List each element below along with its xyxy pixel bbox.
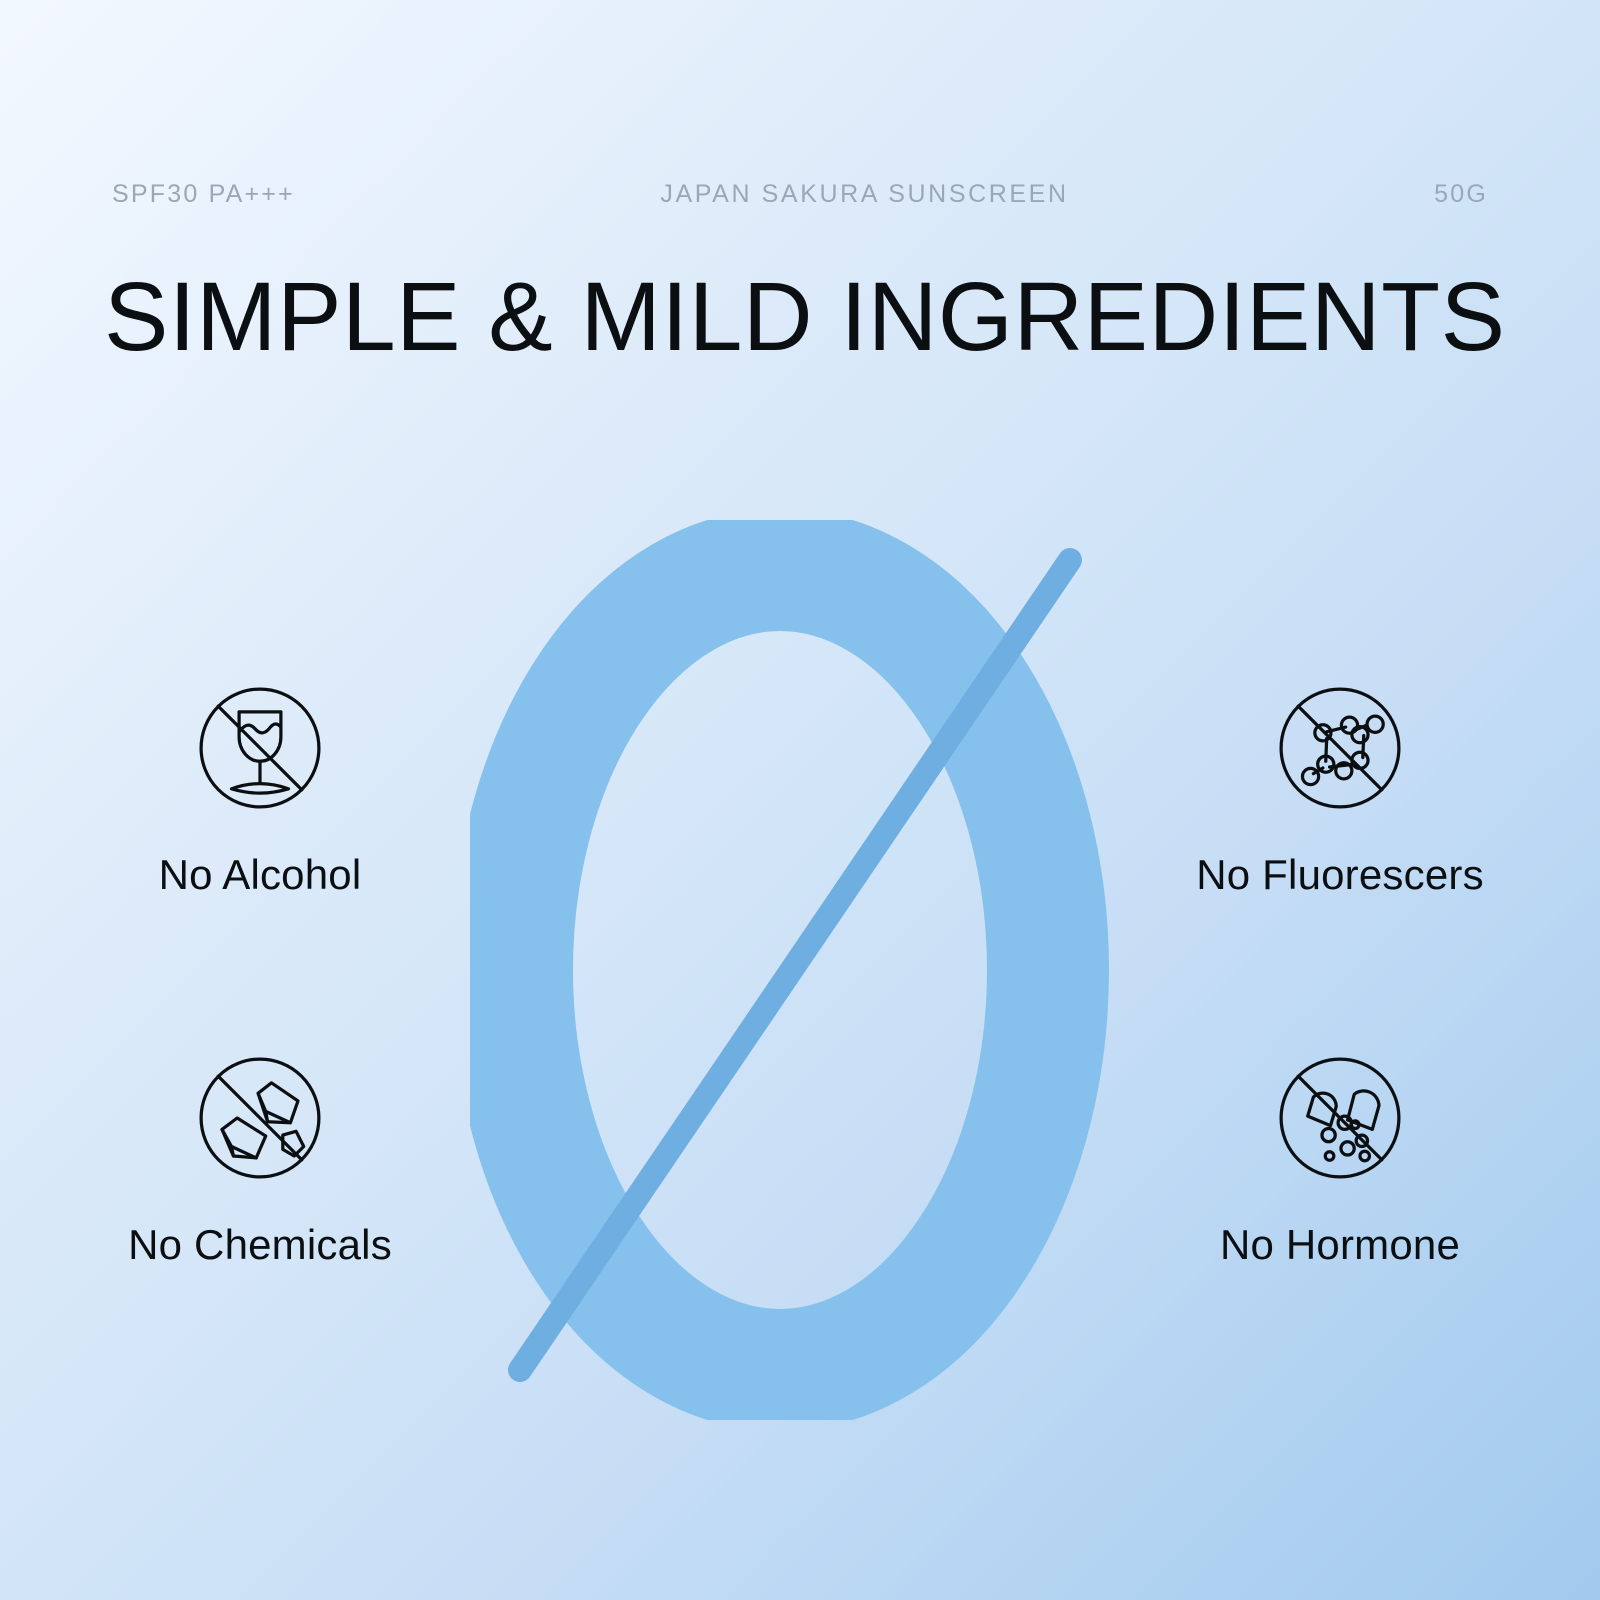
no-hormone-icon <box>1264 1042 1416 1194</box>
product-feature-poster: SPF30 PA+++ JAPAN SAKURA SUNSCREEN 50G S… <box>0 0 1600 1600</box>
no-alcohol-icon <box>184 672 336 824</box>
meta-bar: SPF30 PA+++ JAPAN SAKURA SUNSCREEN 50G <box>112 178 1488 210</box>
net-weight-label: 50G <box>1434 180 1488 209</box>
page-title: SIMPLE & MILD INGREDIENTS <box>104 268 1489 365</box>
feature-no-chemicals: No Chemicals <box>60 1042 460 1268</box>
product-name-label: JAPAN SAKURA SUNSCREEN <box>295 180 1434 209</box>
no-chemicals-icon <box>184 1042 336 1194</box>
feature-no-alcohol: No Alcohol <box>60 672 460 898</box>
feature-label: No Fluorescers <box>1140 852 1540 898</box>
no-fluorescers-icon <box>1264 672 1416 824</box>
feature-no-fluorescers: No Fluorescers <box>1140 672 1540 898</box>
feature-no-hormone: No Hormone <box>1140 1042 1540 1268</box>
spf-rating-label: SPF30 PA+++ <box>112 180 295 209</box>
feature-label: No Hormone <box>1140 1222 1540 1268</box>
zero-graphic <box>470 520 1130 1420</box>
feature-label: No Chemicals <box>60 1222 460 1268</box>
feature-label: No Alcohol <box>60 852 460 898</box>
